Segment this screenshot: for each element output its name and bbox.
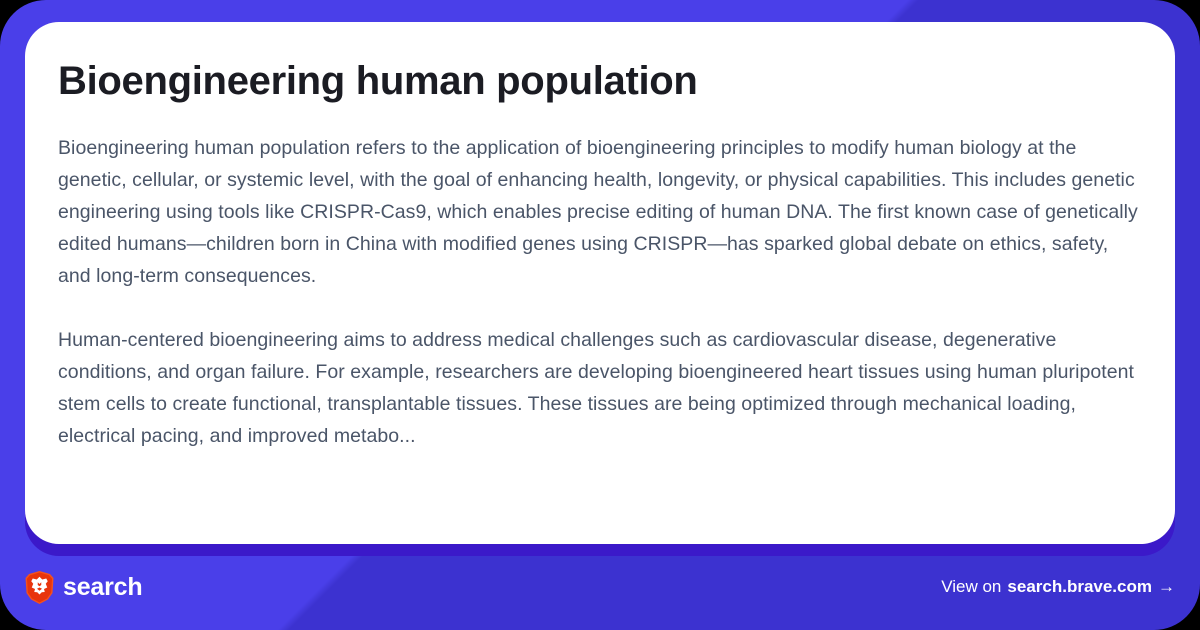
- content-card: Bioengineering human population Bioengin…: [25, 22, 1175, 544]
- view-on-link[interactable]: View on search.brave.com →: [941, 577, 1175, 597]
- brand-wordmark: search: [63, 573, 142, 602]
- og-card-page: Bioengineering human population Bioengin…: [0, 0, 1200, 630]
- summary-paragraph: Bioengineering human population refers t…: [58, 132, 1142, 292]
- brave-lion-icon: [25, 571, 54, 604]
- view-on-domain: search.brave.com: [1007, 577, 1152, 597]
- view-on-prefix: View on: [941, 577, 1001, 597]
- footer-bar: search View on search.brave.com →: [0, 544, 1200, 630]
- body-copy: Bioengineering human population refers t…: [58, 132, 1142, 452]
- brave-search-brand[interactable]: search: [25, 571, 142, 604]
- arrow-right-icon: →: [1158, 577, 1175, 597]
- page-title: Bioengineering human population: [58, 58, 1142, 105]
- summary-paragraph: Human-centered bioengineering aims to ad…: [58, 324, 1142, 452]
